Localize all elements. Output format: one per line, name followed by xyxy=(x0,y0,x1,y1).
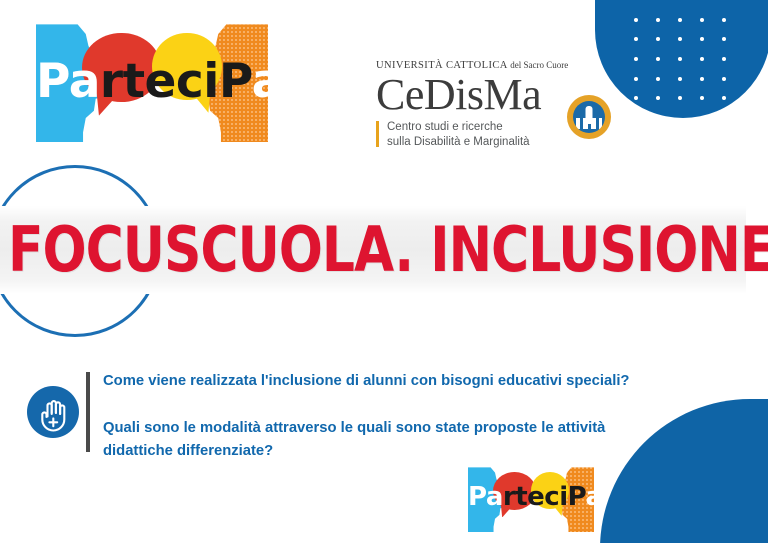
participa-letter-a2: a xyxy=(585,482,602,512)
participa-letter-p1: P xyxy=(468,482,486,512)
hand-plus-icon xyxy=(27,386,79,438)
participa-wordmark: ParteciPa xyxy=(36,58,268,105)
participa-letter-p2: P xyxy=(219,54,252,109)
participa-logo-bottom: ParteciPa xyxy=(468,466,594,532)
participa-letter-a2: a xyxy=(252,54,283,109)
participa-letter-a1: a xyxy=(69,54,100,109)
question-item-2: Quali sono le modalità attraverso le qua… xyxy=(103,417,663,463)
questions-list: Come viene realizzata l'inclusione di al… xyxy=(103,370,663,463)
question-item-1: Come viene realizzata l'inclusione di al… xyxy=(103,370,663,393)
participa-letter-p2: P xyxy=(568,482,586,512)
page-title: FOCUSCUOLA. INCLUSIONE 20.20 xyxy=(8,210,715,290)
participa-letter-a1: a xyxy=(486,482,503,512)
participa-logo-top: ParteciPa xyxy=(36,22,268,142)
participa-letter-p1: P xyxy=(36,54,69,109)
participa-letters-rteci: rteci xyxy=(503,482,568,512)
slide-canvas: ParteciPa UNIVERSITÀ CATTOLICA del Sacro… xyxy=(0,0,768,543)
universita-cattolica-seal-icon xyxy=(567,95,611,139)
participa-wordmark: ParteciPa xyxy=(468,484,594,510)
university-small-text: del Sacro Cuore xyxy=(510,60,568,70)
dot-grid xyxy=(625,10,735,108)
question-divider xyxy=(86,372,90,452)
participa-letters-rteci: rteci xyxy=(100,54,219,109)
